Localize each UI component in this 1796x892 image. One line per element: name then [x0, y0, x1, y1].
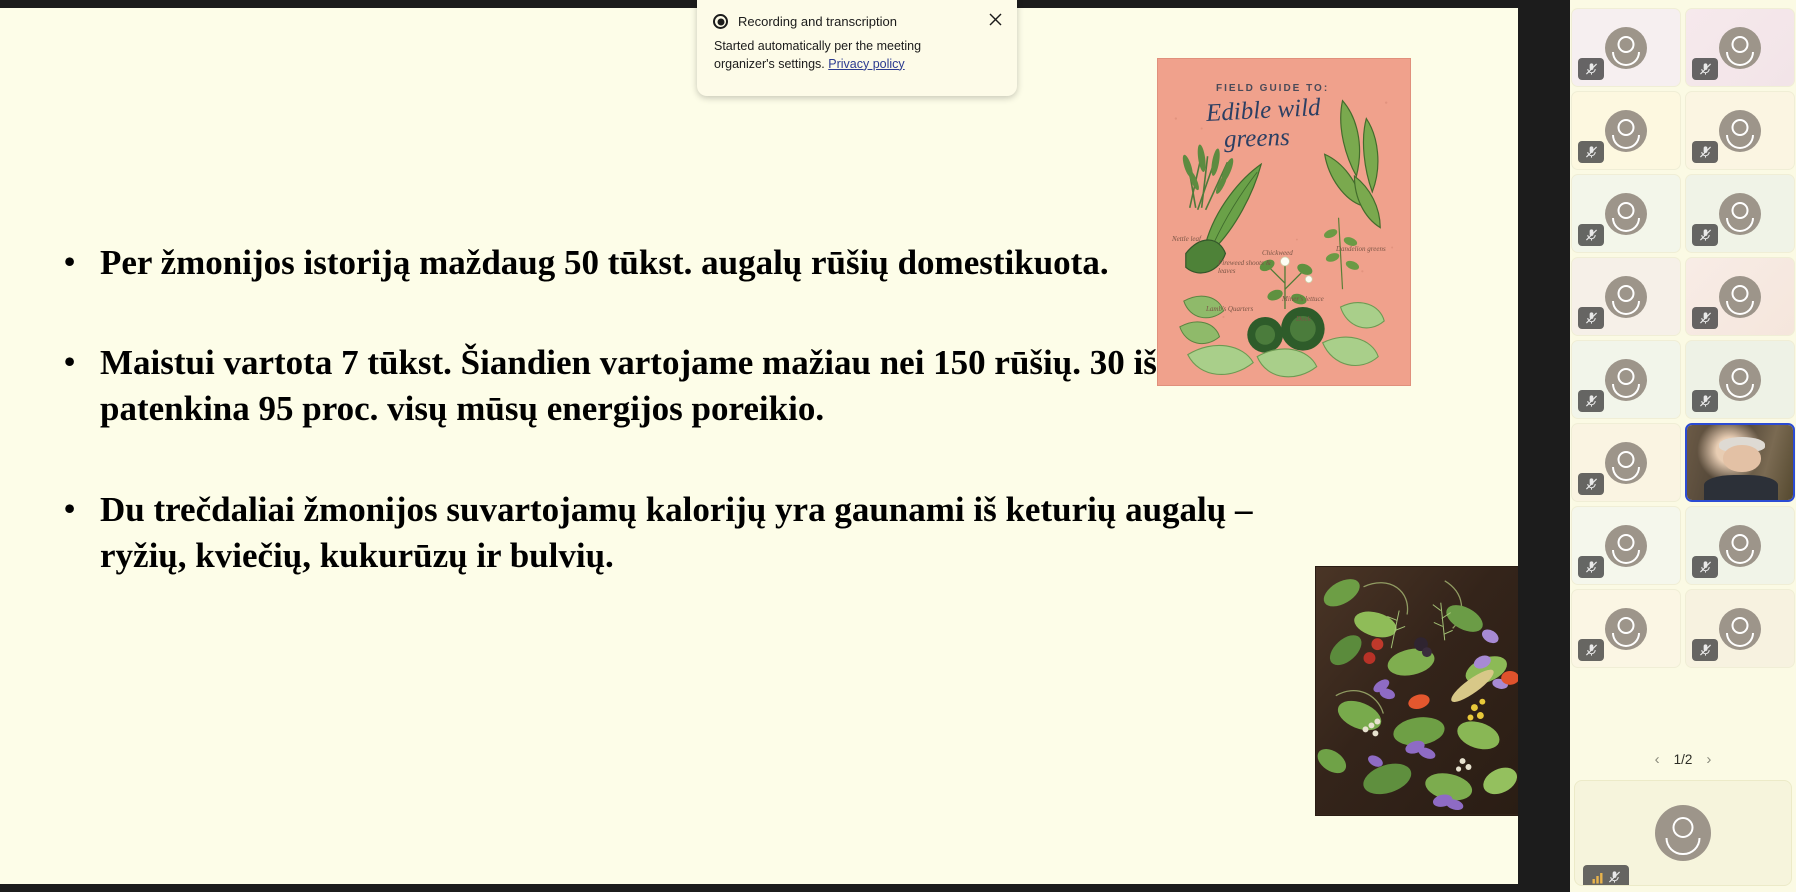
participant-tile[interactable] — [1685, 91, 1795, 170]
shared-content-stage: • Per žmonijos istoriją maždaug 50 tūkst… — [0, 0, 1518, 892]
illustration-caption-line1: FIELD GUIDE TO: — [1216, 83, 1329, 94]
field-guide-illustration: FIELD GUIDE TO: Edible wild greens Chick… — [1157, 58, 1411, 386]
participant-tile[interactable] — [1571, 91, 1681, 170]
mic-muted-icon — [1608, 870, 1621, 884]
illustration-label-miners-lettuce: Miner's lettuce — [1282, 295, 1324, 303]
mic-muted-icon — [1692, 58, 1718, 80]
stage-gutter — [1518, 0, 1570, 892]
privacy-policy-link[interactable]: Privacy policy — [828, 57, 904, 71]
page-indicator: 1/2 — [1674, 752, 1693, 767]
mic-muted-icon — [1692, 307, 1718, 329]
bullet-marker: • — [64, 487, 100, 529]
mic-muted-glyph — [1699, 145, 1712, 159]
participant-tile[interactable] — [1571, 257, 1681, 336]
participant-tile[interactable] — [1571, 340, 1681, 419]
mic-muted-glyph — [1585, 228, 1598, 242]
mic-muted-icon — [1578, 224, 1604, 246]
participant-tile-active-speaker[interactable] — [1685, 423, 1795, 502]
mic-muted-icon — [1692, 390, 1718, 412]
presentation-slide[interactable]: • Per žmonijos istoriją maždaug 50 tūkst… — [0, 8, 1518, 884]
notification-title: Recording and transcription — [738, 14, 897, 29]
illustration-label-chickweed: Chickweed — [1262, 249, 1293, 257]
participant-tile[interactable] — [1685, 174, 1795, 253]
recording-notification[interactable]: Recording and transcription Started auto… — [697, 0, 1017, 96]
mic-muted-glyph — [1585, 477, 1598, 491]
mic-muted-glyph — [1699, 62, 1712, 76]
video-face-region — [1723, 445, 1761, 472]
participant-tile[interactable] — [1685, 589, 1795, 668]
mic-muted-glyph — [1585, 394, 1598, 408]
illustration-label-dandelion: Dandelion greens — [1336, 245, 1392, 253]
avatar — [1605, 193, 1647, 235]
bullet-text: Per žmonijos istoriją maždaug 50 tūkst. … — [100, 240, 1334, 286]
mic-muted-icon — [1692, 224, 1718, 246]
notification-body-line2: organizer's settings. — [714, 57, 828, 71]
mic-muted-glyph — [1585, 311, 1598, 325]
bullet-marker: • — [64, 340, 100, 382]
close-icon-glyph — [989, 13, 1002, 26]
mic-muted-icon — [1578, 390, 1604, 412]
mic-muted-icon — [1578, 307, 1604, 329]
participant-tile[interactable] — [1571, 423, 1681, 502]
participant-tile[interactable] — [1571, 174, 1681, 253]
participant-tile[interactable] — [1685, 8, 1795, 87]
avatar — [1719, 359, 1761, 401]
avatar — [1719, 27, 1761, 69]
bullet-text: Maistui vartota 7 tūkst. Šiandien vartoj… — [100, 340, 1334, 432]
participant-tile[interactable] — [1685, 506, 1795, 585]
notification-body-line1: Started automatically per the meeting — [714, 39, 921, 53]
video-torso-region — [1704, 475, 1778, 501]
mic-muted-icon — [1692, 639, 1718, 661]
avatar — [1605, 276, 1647, 318]
mic-muted-glyph — [1699, 643, 1712, 657]
mic-muted-glyph — [1699, 394, 1712, 408]
illustration-label-lambsquarters: Lamb's Quarters — [1206, 305, 1253, 313]
bullet-marker: • — [64, 240, 100, 282]
participant-tile[interactable] — [1571, 589, 1681, 668]
list-item: • Maistui vartota 7 tūkst. Šiandien vart… — [64, 340, 1334, 432]
mic-muted-glyph — [1585, 643, 1598, 657]
mic-muted-glyph — [1699, 228, 1712, 242]
avatar — [1605, 525, 1647, 567]
self-view-tile[interactable] — [1574, 780, 1792, 886]
list-item: • Du trečdaliai žmonijos suvartojamų kal… — [64, 487, 1334, 579]
illustration-label-dock: Dock — [1296, 315, 1311, 323]
mic-muted-icon — [1692, 556, 1718, 578]
avatar — [1605, 442, 1647, 484]
notification-body: Started automatically per the meeting or… — [713, 38, 1001, 74]
self-status-badge — [1583, 865, 1629, 886]
illustration-caption-line3: greens — [1224, 124, 1291, 154]
mic-muted-glyph — [1585, 145, 1598, 159]
close-icon[interactable] — [985, 12, 1005, 32]
participants-rail: ‹ 1/2 › — [1570, 0, 1796, 892]
illustration-label-fireweed: Fireweed shoots & leaves — [1218, 259, 1282, 275]
avatar — [1719, 276, 1761, 318]
participant-tile[interactable] — [1571, 8, 1681, 87]
avatar — [1719, 110, 1761, 152]
mic-muted-glyph — [1585, 560, 1598, 574]
list-item: • Per žmonijos istoriją maždaug 50 tūkst… — [64, 240, 1334, 286]
avatar — [1605, 27, 1647, 69]
mic-muted-icon — [1692, 141, 1718, 163]
record-icon — [713, 14, 728, 29]
chevron-left-icon[interactable]: ‹ — [1655, 752, 1660, 767]
avatar — [1605, 110, 1647, 152]
notification-header: Recording and transcription — [713, 14, 1001, 29]
mic-muted-glyph — [1699, 560, 1712, 574]
mic-muted-glyph — [1585, 62, 1598, 76]
salad-photo-artwork — [1316, 567, 1518, 815]
mic-muted-glyph — [1699, 311, 1712, 325]
participant-video — [1687, 425, 1793, 500]
chevron-right-icon[interactable]: › — [1706, 752, 1711, 767]
avatar — [1655, 805, 1711, 861]
mic-muted-icon — [1578, 556, 1604, 578]
mic-muted-icon — [1578, 639, 1604, 661]
mic-muted-icon — [1578, 58, 1604, 80]
illustration-label-nettle: Nettle leaf — [1172, 235, 1201, 243]
participant-tile[interactable] — [1571, 506, 1681, 585]
avatar — [1719, 193, 1761, 235]
meeting-app-root: • Per žmonijos istoriją maždaug 50 tūkst… — [0, 0, 1796, 892]
avatar — [1719, 525, 1761, 567]
participant-tile[interactable] — [1685, 340, 1795, 419]
foraged-salad-photo — [1315, 566, 1518, 816]
illustration-caption-line2: Edible wild — [1205, 94, 1321, 128]
avatar — [1605, 608, 1647, 650]
participant-tile[interactable] — [1685, 257, 1795, 336]
avatar — [1719, 608, 1761, 650]
slide-bullet-list: • Per žmonijos istoriją maždaug 50 tūkst… — [64, 240, 1334, 633]
mic-muted-icon — [1578, 141, 1604, 163]
bullet-text: Du trečdaliai žmonijos suvartojamų kalor… — [100, 487, 1334, 579]
avatar — [1605, 359, 1647, 401]
mic-muted-icon — [1578, 473, 1604, 495]
signal-bars-icon — [1592, 871, 1604, 884]
participants-pagination: ‹ 1/2 › — [1570, 744, 1796, 774]
participant-tile-grid — [1570, 8, 1796, 668]
